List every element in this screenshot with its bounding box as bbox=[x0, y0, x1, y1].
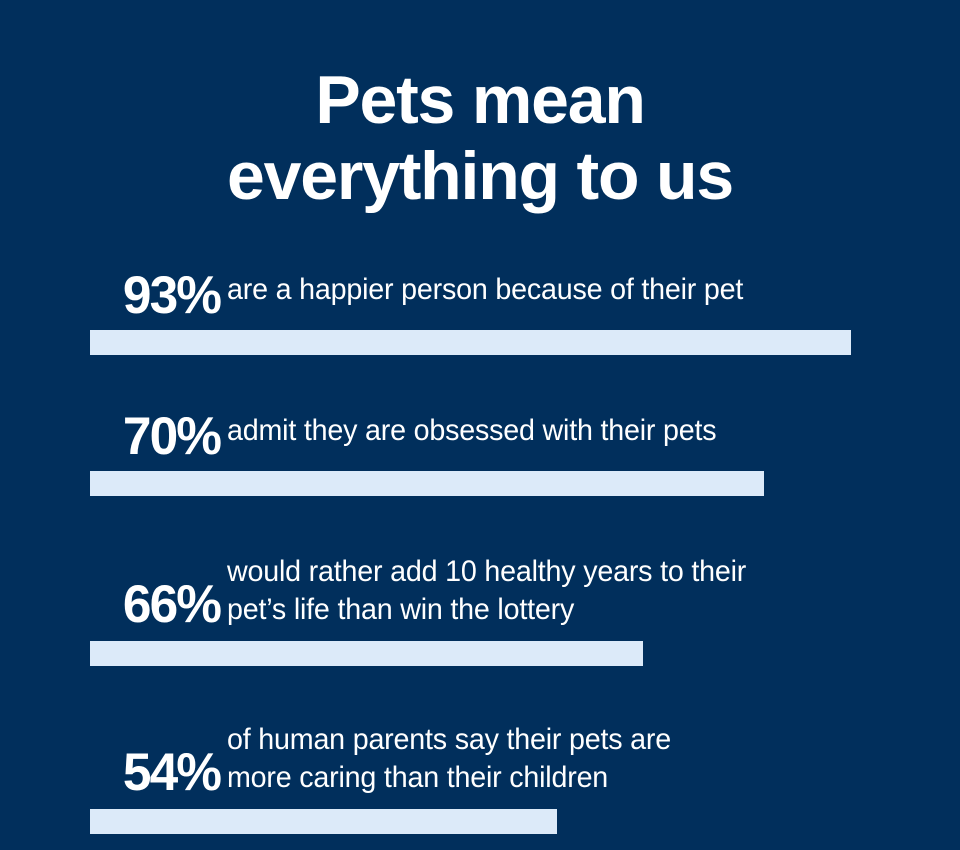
page-title: Pets mean everything to us bbox=[0, 62, 960, 214]
stat-bar-fill bbox=[90, 471, 764, 496]
title-line-1: Pets mean bbox=[0, 62, 960, 138]
stat-header: 93% are a happier person because of thei… bbox=[0, 268, 960, 330]
stat-bar-track bbox=[90, 330, 908, 355]
stat-bar-fill bbox=[90, 641, 643, 666]
stats-list: 93% are a happier person because of thei… bbox=[0, 268, 960, 834]
stat-bar-track bbox=[90, 471, 908, 496]
stat-description: are a happier person because of their pe… bbox=[227, 271, 896, 309]
stat-description: would rather add 10 healthy years to the… bbox=[227, 553, 896, 629]
stat-percent-value: 70% bbox=[65, 409, 220, 465]
stat-description: admit they are obsessed with their pets bbox=[227, 412, 896, 450]
stat-header: 66% would rather add 10 healthy years to… bbox=[0, 551, 960, 641]
title-line-2: everything to us bbox=[0, 138, 960, 214]
stat-bar-track bbox=[90, 641, 908, 666]
stat-row: 93% are a happier person because of thei… bbox=[0, 268, 960, 355]
stat-row: 66% would rather add 10 healthy years to… bbox=[0, 551, 960, 666]
stat-description-line-1: admit they are obsessed with their pets bbox=[227, 412, 896, 450]
stat-bar-track bbox=[90, 809, 908, 834]
stat-header: 54% of human parents say their pets are … bbox=[0, 719, 960, 809]
stat-row: 54% of human parents say their pets are … bbox=[0, 719, 960, 834]
stat-percent-value: 54% bbox=[65, 745, 220, 801]
stat-description: of human parents say their pets are more… bbox=[227, 721, 896, 797]
stat-percent-value: 66% bbox=[65, 577, 220, 633]
stat-percent-value: 93% bbox=[65, 268, 220, 324]
stat-row: 70% admit they are obsessed with their p… bbox=[0, 409, 960, 496]
stat-description-line-1: would rather add 10 healthy years to the… bbox=[227, 553, 896, 591]
stat-bar-fill bbox=[90, 330, 851, 355]
stat-description-line-2: pet’s life than win the lottery bbox=[227, 591, 896, 629]
stat-bar-fill bbox=[90, 809, 557, 834]
stat-description-line-2: more caring than their children bbox=[227, 759, 896, 797]
stat-header: 70% admit they are obsessed with their p… bbox=[0, 409, 960, 471]
stat-description-line-1: of human parents say their pets are bbox=[227, 721, 896, 759]
stat-description-line-1: are a happier person because of their pe… bbox=[227, 271, 896, 309]
infographic-canvas: Pets mean everything to us 93% are a hap… bbox=[0, 0, 960, 850]
